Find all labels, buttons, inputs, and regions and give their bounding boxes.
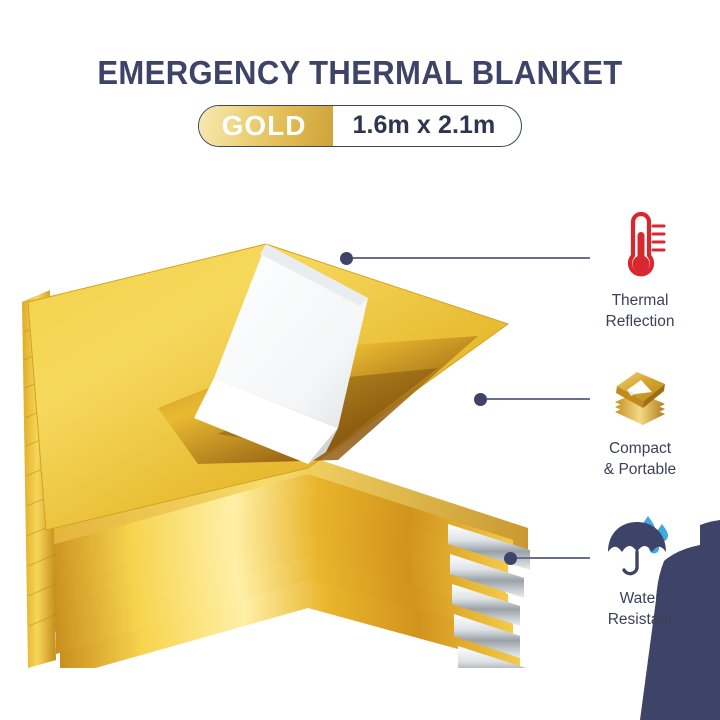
header: EMERGENCY THERMAL BLANKET GOLD 1.6m x 2.… [0,56,720,147]
feature-compact-portable: Compact & Portable [560,358,720,481]
feature-water-resistant: Water Resistant [560,508,720,631]
product-infographic: EMERGENCY THERMAL BLANKET GOLD 1.6m x 2.… [0,0,720,720]
connector-dot-1 [340,252,353,265]
blanket-stack-icon [607,364,673,430]
variant-badge: GOLD 1.6m x 2.1m [198,105,523,147]
umbrella-rain-icon [604,512,676,580]
feature-thermal-reflection: Thermal Reflection [560,210,720,333]
connector-dot-3 [504,552,517,565]
badge-size-label: 1.6m x 2.1m [333,106,522,146]
feature-label-2: Compact & Portable [560,439,720,481]
connector-dot-2 [474,393,487,406]
connector-line-1 [340,251,590,265]
feature-label-3: Water Resistant [560,589,720,631]
feature-icon-wrap-3 [560,508,720,580]
feature-icon-wrap-2 [560,358,720,430]
feature-label-1: Thermal Reflection [560,291,720,333]
product-image [8,228,553,668]
feature-icon-wrap-1 [560,210,720,282]
badge-color-label: GOLD [198,105,333,147]
thermometer-icon [612,210,668,282]
connector-stroke-1 [353,257,590,259]
badge-row: GOLD 1.6m x 2.1m [0,105,720,147]
top-left-navy-corner [0,0,500,42]
page-title: EMERGENCY THERMAL BLANKET [22,56,699,91]
umbrella-handle [624,552,637,574]
